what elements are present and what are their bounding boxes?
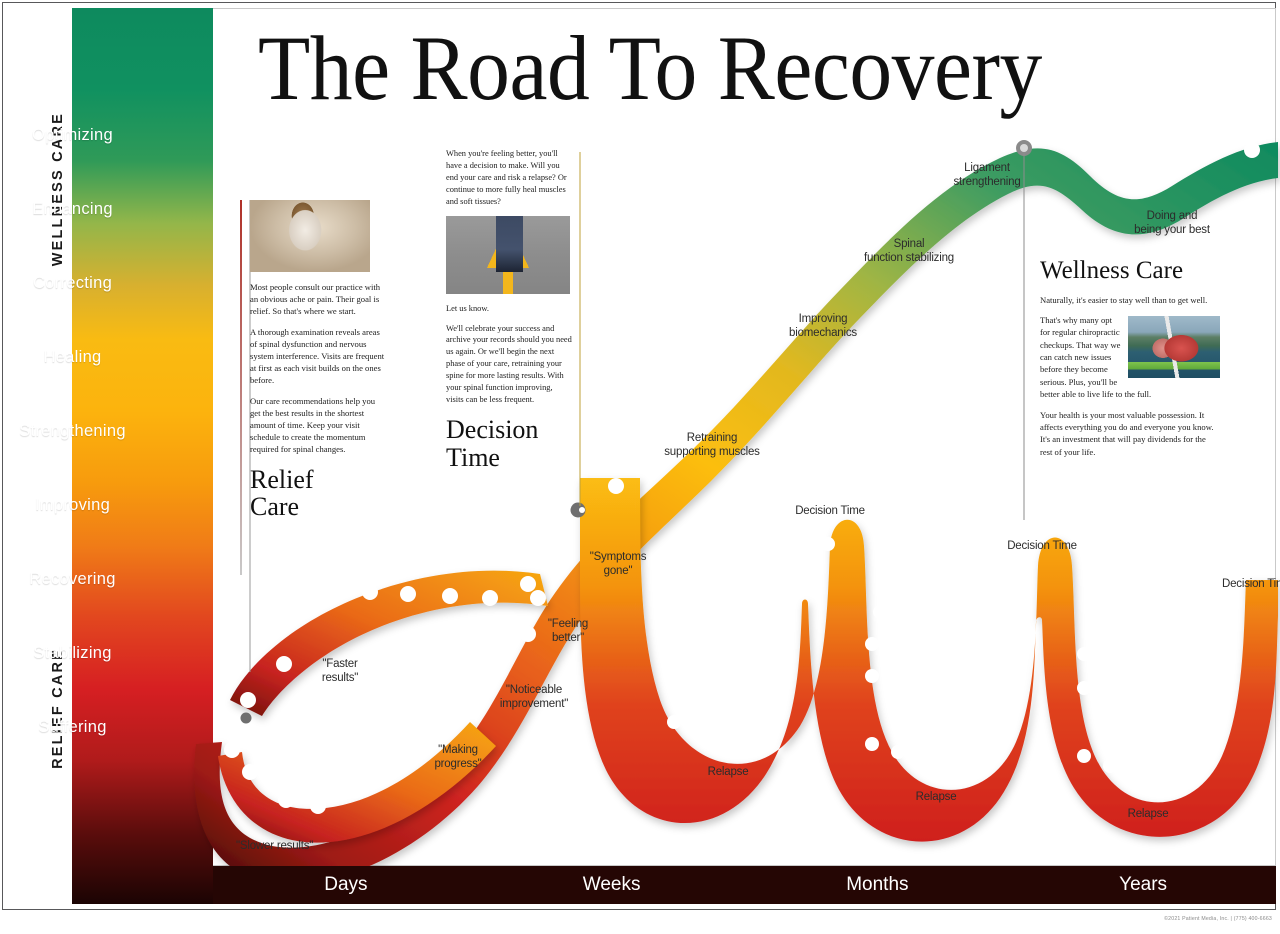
decision-paragraph-2: We'll celebrate your success and archive… bbox=[446, 323, 572, 406]
relief-care-heading: Relief Care bbox=[250, 466, 385, 521]
relief-paragraph-1: Most people consult our practice with an… bbox=[250, 281, 385, 318]
relief-column-rule bbox=[240, 200, 242, 575]
copyright-notice: ©2021 Patient Media, Inc. | (775) 400-66… bbox=[1164, 916, 1272, 922]
annotation-relapse-1: Relapse bbox=[698, 766, 758, 780]
annotation-relapse-3: Relapse bbox=[1118, 808, 1178, 822]
annotation-decision-time-2: Decision Time bbox=[992, 540, 1092, 554]
annotation-symptoms-gone: "Symptoms gone" bbox=[578, 551, 658, 579]
relief-paragraph-3: Our care recommendations help you get th… bbox=[250, 395, 385, 456]
annotation-noticeable-improvement: "Noticeable improvement" bbox=[486, 684, 582, 712]
annotation-improving-biomechanics: Improving biomechanics bbox=[777, 313, 869, 341]
annotation-making-progress: "Making progress" bbox=[422, 744, 494, 772]
decision-paragraph-1: Let us know. bbox=[446, 303, 572, 315]
timeline-tick-years: Years bbox=[1010, 866, 1276, 904]
scale-item-healing: Healing bbox=[0, 348, 145, 367]
annotation-decision-time-1: Decision Time bbox=[780, 505, 880, 519]
wellness-paragraph-1: Naturally, it's easier to stay well than… bbox=[1040, 294, 1220, 306]
couple-kayaking-photo bbox=[1128, 316, 1220, 378]
scale-item-stabilizing: Stabilizing bbox=[0, 644, 145, 663]
scale-item-optimizing: Optimizing bbox=[0, 126, 145, 145]
annotation-decision-time-3: Decision Time bbox=[1222, 578, 1280, 592]
decision-paragraph-intro: When you're feeling better, you'll have … bbox=[446, 148, 572, 208]
annotation-faster-results: "Faster results" bbox=[305, 658, 375, 686]
annotation-spinal-function: Spinal function stabilizing bbox=[850, 238, 968, 266]
relief-care-column: Most people consult our practice with an… bbox=[250, 200, 385, 521]
scale-item-suffering: Suffering bbox=[0, 718, 145, 737]
annotation-slower-results: "Slower results" bbox=[236, 840, 346, 854]
timeline-axis: Days Weeks Months Years bbox=[213, 866, 1276, 904]
scale-item-improving: Improving bbox=[0, 496, 145, 515]
annotation-doing-your-best: Doing and being your best bbox=[1116, 210, 1228, 238]
relief-care-axis-label: RELIEF CARE bbox=[50, 648, 66, 769]
poster-root: WELLNESS CARE RELIEF CARE Optimizing Enh… bbox=[0, 0, 1280, 934]
feet-at-crossroads-arrows-photo bbox=[446, 216, 570, 294]
annotation-retraining-muscles: Retraining supporting muscles bbox=[650, 432, 774, 460]
decision-time-heading: Decision Time bbox=[446, 416, 572, 471]
timeline-tick-weeks: Weeks bbox=[479, 866, 745, 904]
scale-item-enhancing: Enhancing bbox=[0, 200, 145, 219]
timeline-tick-days: Days bbox=[213, 866, 479, 904]
page-title: The Road To Recovery bbox=[258, 22, 1151, 114]
scale-item-recovering: Recovering bbox=[0, 570, 145, 589]
wellness-care-column: Wellness Care Naturally, it's easier to … bbox=[1040, 258, 1220, 466]
annotation-feeling-better: "Feeling better" bbox=[534, 618, 602, 646]
woman-with-back-pain-photo bbox=[250, 200, 370, 272]
scale-item-correcting: Correcting bbox=[0, 274, 145, 293]
timeline-tick-months: Months bbox=[745, 866, 1011, 904]
annotation-ligament-strengthening: Ligament strengthening bbox=[934, 162, 1040, 190]
annotation-relapse-2: Relapse bbox=[906, 791, 966, 805]
scale-item-strengthening: Strengthening bbox=[0, 422, 145, 441]
decision-time-column: When you're feeling better, you'll have … bbox=[446, 148, 572, 471]
wellness-care-heading: Wellness Care bbox=[1040, 258, 1220, 285]
relief-paragraph-2: A thorough examination reveals areas of … bbox=[250, 326, 385, 387]
wellness-paragraph-3: Your health is your most valuable posses… bbox=[1040, 409, 1220, 459]
